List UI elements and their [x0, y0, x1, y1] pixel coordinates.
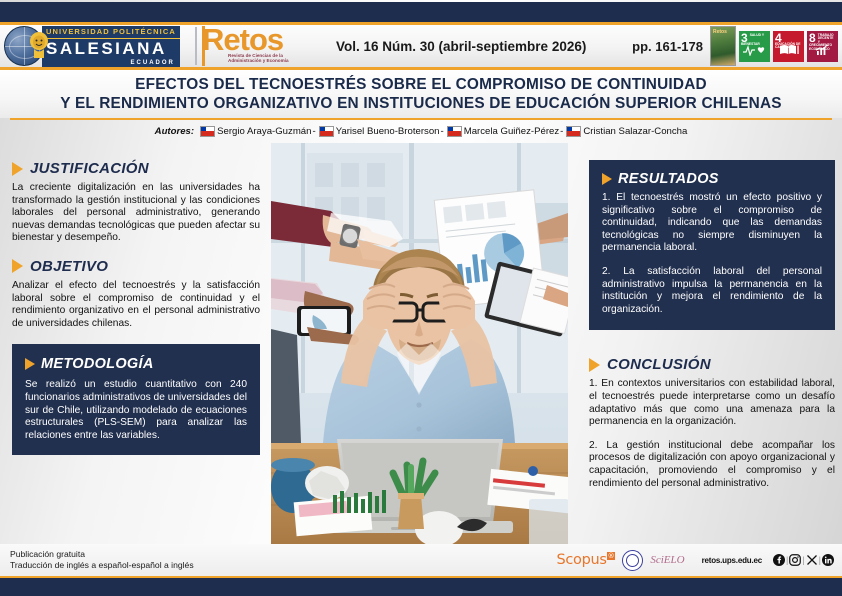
resultados-heading: RESULTADOS	[618, 171, 719, 187]
retos-wordmark: Retos	[202, 25, 283, 55]
conclusion-heading: CONCLUSIÓN	[607, 356, 711, 373]
footer-indexers: Scopus® SciELO retos.ups.edu.ec | | |	[556, 550, 834, 571]
sdg-8-badge: 8 TRABAJO DECENTE Y CRECIMIENTO ECONÓMIC…	[807, 31, 838, 62]
university-line2: SALESIANA	[42, 39, 180, 59]
right-column: RESULTADOS 1. El tecnoestrés mostró un e…	[589, 160, 835, 490]
author-name-4: Cristian Salazar-Concha	[583, 126, 687, 137]
metodologia-body: Se realizó un estudio cuantitativo con 2…	[25, 379, 247, 442]
x-twitter-icon[interactable]	[806, 554, 818, 566]
retos-subtitle: Revista de Ciencias de la Administración…	[228, 53, 308, 64]
conclusion-item-2: 2. La gestión institucional debe acompañ…	[589, 440, 835, 490]
university-line1: UNIVERSIDAD POLITÉCNICA	[42, 26, 180, 39]
objetivo-body: Analizar el efecto del tecnoestrés y la …	[12, 280, 260, 330]
conclusion-item-1: 1. En contextos universitarios con estab…	[589, 378, 835, 428]
social-links[interactable]: | | |	[773, 554, 834, 566]
chile-flag-icon	[200, 126, 215, 137]
website-url: retos.ups.edu.ec	[702, 556, 762, 565]
university-wordmark: UNIVERSIDAD POLITÉCNICA SALESIANA ECUADO…	[42, 26, 180, 67]
conclusion-heading-row: CONCLUSIÓN	[589, 356, 835, 373]
conclusion-section: CONCLUSIÓN 1. En contextos universitario…	[589, 356, 835, 490]
social-divider: |	[819, 555, 821, 565]
universidad-politecnica-salesiana-logo: UNIVERSIDAD POLITÉCNICA SALESIANA ECUADO…	[4, 26, 192, 66]
social-divider: |	[802, 555, 804, 565]
metodologia-heading-row: METODOLOGÍA	[25, 356, 247, 372]
triangle-bullet-icon	[12, 162, 23, 176]
resultados-item-1: 1. El tecnoestrés mostró un efecto posit…	[602, 192, 822, 255]
author-separator: -	[441, 126, 444, 137]
justificacion-heading: JUSTIFICACIÓN	[30, 160, 149, 177]
author-name-1: Sergio Araya-Guzmán	[217, 126, 311, 137]
sdg-3-badge: 3 SALUD Y BIENESTAR	[739, 31, 770, 62]
article-title-block: EFECTOS DEL TECNOESTRÉS SOBRE EL COMPROM…	[0, 70, 842, 118]
title-orange-rule	[10, 118, 832, 120]
lion-emblem-icon	[28, 30, 50, 60]
retos-journal-logo: Retos Revista de Ciencias de la Administ…	[202, 26, 320, 66]
doaj-seal-icon	[622, 550, 643, 571]
sdg-4-badge: 4 EDUCACIÓN DE CALIDAD	[773, 31, 804, 62]
growth-chart-icon	[807, 43, 838, 61]
stressed-man-at-laptop-photo	[271, 143, 568, 549]
author-name-2: Yarisel Bueno-Broterson	[336, 126, 440, 137]
scopus-badge: ®	[607, 552, 616, 560]
infographic-poster: UNIVERSIDAD POLITÉCNICA SALESIANA ECUADO…	[0, 0, 842, 596]
author-separator: -	[312, 126, 315, 137]
triangle-bullet-icon	[25, 358, 35, 370]
triangle-bullet-icon	[589, 358, 600, 372]
footer-notes: Publicación gratuita Traducción de inglé…	[10, 549, 194, 571]
sdg-4-number: 4	[775, 33, 782, 43]
objetivo-heading: OBJETIVO	[30, 258, 108, 275]
resultados-heading-row: RESULTADOS	[602, 171, 822, 187]
objetivo-heading-row: OBJETIVO	[12, 258, 260, 275]
author-name-3: Marcela Guiñez-Pérez	[464, 126, 559, 137]
volume-issue-label: Vol. 16 Núm. 30 (abril-septiembre 2026)	[336, 39, 586, 54]
authors-label: Autores:	[155, 126, 194, 137]
title-line-1: EFECTOS DEL TECNOESTRÉS SOBRE EL COMPROM…	[135, 75, 707, 94]
journal-cover-thumbnail	[710, 26, 736, 66]
triangle-bullet-icon	[602, 173, 612, 185]
title-line-2: Y EL RENDIMIENTO ORGANIZATIVO EN INSTITU…	[60, 94, 781, 113]
left-column: JUSTIFICACIÓN La creciente digitalizació…	[12, 160, 260, 455]
resultados-section: RESULTADOS 1. El tecnoestrés mostró un e…	[589, 160, 835, 330]
masthead: UNIVERSIDAD POLITÉCNICA SALESIANA ECUADO…	[0, 25, 842, 67]
scopus-logo: Scopus®	[556, 552, 615, 568]
metodologia-section: METODOLOGÍA Se realizó un estudio cuanti…	[12, 344, 260, 455]
author-separator: -	[560, 126, 563, 137]
open-book-icon	[773, 43, 804, 61]
scielo-logo: SciELO	[650, 554, 684, 566]
chile-flag-icon	[319, 126, 334, 137]
footer-note-1: Publicación gratuita	[10, 549, 194, 560]
social-divider: |	[786, 555, 788, 565]
footer-note-2: Traducción de inglés a español-español a…	[10, 560, 194, 571]
objetivo-section: OBJETIVO Analizar el efecto del tecnoest…	[12, 258, 260, 330]
page-range-label: pp. 161-178	[632, 39, 703, 54]
facebook-icon[interactable]	[773, 554, 785, 566]
heartbeat-icon	[739, 43, 770, 61]
authors-line: Autores: Sergio Araya-Guzmán - Yarisel B…	[0, 121, 842, 141]
sdg-8-number: 8	[809, 33, 816, 43]
resultados-item-2: 2. La satisfacción laboral del personal …	[602, 266, 822, 316]
justificacion-section: JUSTIFICACIÓN La creciente digitalizació…	[12, 160, 260, 245]
university-line3: ECUADOR	[42, 59, 180, 67]
justificacion-body: La creciente digitalización en las unive…	[12, 182, 260, 245]
metodologia-heading: METODOLOGÍA	[41, 356, 154, 372]
top-navy-bar	[0, 2, 842, 22]
logo-divider	[195, 27, 197, 65]
instagram-icon[interactable]	[789, 554, 801, 566]
chile-flag-icon	[566, 126, 581, 137]
sdg-3-number: 3	[741, 33, 748, 43]
bottom-navy-bar	[0, 578, 842, 596]
footer: Publicación gratuita Traducción de inglé…	[0, 544, 842, 576]
linkedin-icon[interactable]	[822, 554, 834, 566]
triangle-bullet-icon	[12, 259, 23, 273]
chile-flag-icon	[447, 126, 462, 137]
justificacion-heading-row: JUSTIFICACIÓN	[12, 160, 260, 177]
